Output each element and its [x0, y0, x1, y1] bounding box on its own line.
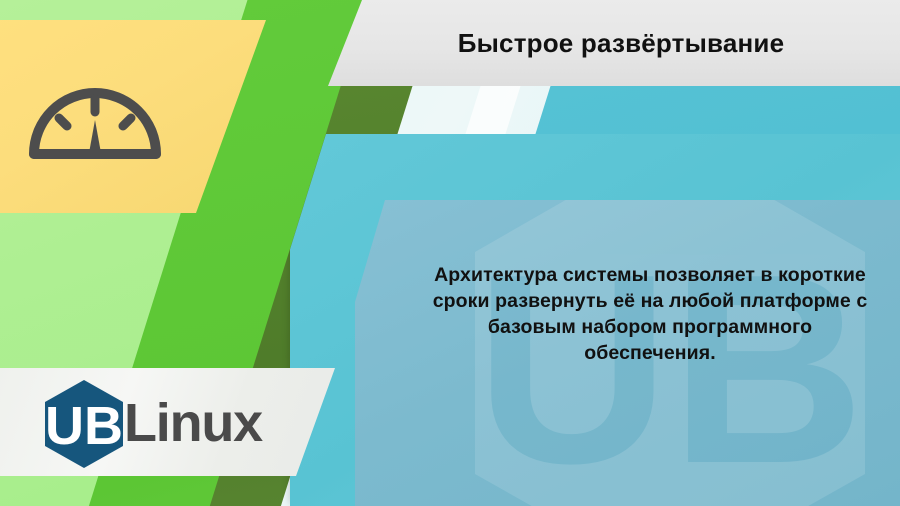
gauge-icon [25, 54, 165, 164]
title-banner: Быстрое развёртывание [318, 0, 900, 86]
logo-wordmark: Linux [124, 396, 262, 450]
ub-mark-text: UB [45, 396, 123, 456]
slide-canvas: UB Архитектура системы позволяет в корот… [0, 0, 900, 506]
brand-logo: UB Linux [42, 378, 262, 470]
ub-hexagon-icon: UB [42, 378, 126, 470]
body-paragraph: Архитектура системы позволяет в короткие… [420, 262, 880, 366]
page-title: Быстрое развёртывание [434, 28, 784, 59]
